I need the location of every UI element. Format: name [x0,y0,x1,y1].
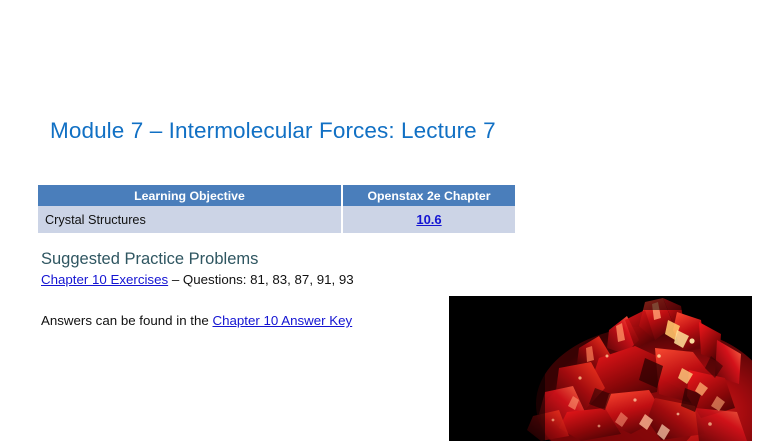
slide-canvas: Module 7 – Intermolecular Forces: Lectur… [0,0,784,441]
column-header-openstax-chapter: Openstax 2e Chapter [342,185,515,206]
practice-problems-heading: Suggested Practice Problems [41,250,258,269]
practice-problems-line: Chapter 10 Exercises – Questions: 81, 83… [41,272,354,287]
cell-openstax-chapter: 10.6 [342,206,515,233]
learning-objectives-table: Learning Objective Openstax 2e Chapter C… [38,185,515,233]
crystal-photo-graphic [449,296,752,441]
cell-learning-objective: Crystal Structures [38,206,342,233]
table-body: Crystal Structures 10.6 [38,206,515,233]
chapter-link-10-6[interactable]: 10.6 [416,212,441,227]
table-header: Learning Objective Openstax 2e Chapter [38,185,515,206]
table-header-row: Learning Objective Openstax 2e Chapter [38,185,515,206]
page-title: Module 7 – Intermolecular Forces: Lectur… [50,117,496,145]
table-row: Crystal Structures 10.6 [38,206,515,233]
chapter-10-answer-key-link[interactable]: Chapter 10 Answer Key [213,313,353,328]
chapter-10-exercises-link[interactable]: Chapter 10 Exercises [41,272,168,287]
column-header-learning-objective: Learning Objective [38,185,342,206]
practice-questions-text: – Questions: 81, 83, 87, 91, 93 [168,272,354,287]
crystal-photo [449,296,752,441]
answers-prefix-text: Answers can be found in the [41,313,213,328]
answers-line: Answers can be found in the Chapter 10 A… [41,313,352,328]
